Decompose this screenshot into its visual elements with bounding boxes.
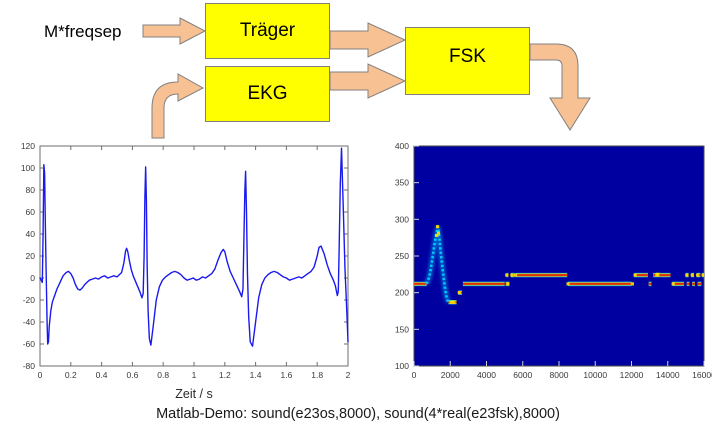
ecg-y-tick-label: 20 — [26, 251, 36, 261]
spectrogram-background — [414, 146, 704, 366]
block-traeger[interactable]: Träger — [205, 3, 330, 59]
block-ekg[interactable]: EKG — [205, 66, 330, 122]
source-label: M*freqsep — [44, 22, 121, 42]
ridge-fleck — [458, 291, 461, 294]
spec-x-tick-label: 8000 — [550, 370, 569, 380]
ecg-y-tick-label: 60 — [26, 207, 36, 217]
block-diagram: M*freqsep Träger EKG FSK — [0, 0, 716, 140]
ecg-y-tick-label: 0 — [30, 273, 35, 283]
ecg-x-tick-label: 1.2 — [219, 370, 231, 380]
ridge-fleck — [656, 273, 659, 276]
ridge-fleck — [566, 282, 569, 285]
ridge-fleck — [685, 273, 688, 276]
ecg-y-tick-label: -60 — [23, 339, 36, 349]
ridge-fleck — [672, 282, 675, 285]
ridge-fleck — [452, 301, 455, 304]
ecg-xaxis-title: Zeit / s — [175, 387, 213, 401]
block-fsk[interactable]: FSK — [405, 27, 530, 95]
ridge-fleck — [631, 282, 634, 285]
arrow-fsk-output — [530, 44, 590, 130]
ecg-x-tick-label: 2 — [346, 370, 351, 380]
ecg-axes-frame — [40, 146, 348, 366]
ridge-fleck — [634, 273, 637, 276]
block-ekg-label: EKG — [247, 83, 287, 105]
ecg-x-tick-label: 1 — [192, 370, 197, 380]
ecg-x-tick-label: 1.4 — [250, 370, 262, 380]
spec-x-tick-label: 2000 — [441, 370, 460, 380]
ecg-x-tick-label: 0.4 — [96, 370, 108, 380]
spec-x-tick-label: 6000 — [513, 370, 532, 380]
ridge-fleck — [696, 273, 699, 276]
ecg-x-tick-label: 0.8 — [157, 370, 169, 380]
spec-y-tick-label: 350 — [395, 178, 409, 188]
arrow-source-to-traeger — [143, 18, 205, 44]
ecg-y-tick-label: 120 — [21, 141, 35, 151]
spec-y-tick-label: 150 — [395, 324, 409, 334]
spec-y-tick-label: 250 — [395, 251, 409, 261]
spec-y-tick-label: 200 — [395, 288, 409, 298]
spectrogram-plot: 1001502002503003504000200040006000800010… — [378, 138, 712, 403]
ecg-x-tick-label: 0.6 — [126, 370, 138, 380]
spec-x-tick-label: 4000 — [477, 370, 496, 380]
spec-x-tick-label: 0 — [412, 370, 417, 380]
spec-x-tick-label: 14000 — [656, 370, 680, 380]
ecg-x-tick-label: 1.6 — [280, 370, 292, 380]
slide-canvas: M*freqsep Träger EKG FSK -80-60-40-20020… — [0, 0, 716, 441]
arrow-ekg-to-fsk — [330, 64, 405, 98]
ecg-y-tick-label: -20 — [23, 295, 36, 305]
ridge-fleck — [691, 273, 694, 276]
ecg-y-tick-label: -80 — [23, 361, 36, 371]
spec-x-tick-label: 16000 — [692, 370, 712, 380]
ridge-fleck — [436, 225, 439, 228]
ecg-x-tick-label: 0.2 — [65, 370, 77, 380]
spectrogram-plot-svg: 1001502002503003504000200040006000800010… — [378, 138, 712, 403]
arrow-feedback-to-ekg — [152, 74, 203, 138]
ecg-y-tick-label: 80 — [26, 185, 36, 195]
ecg-y-tick-label: 100 — [21, 163, 35, 173]
ecg-y-tick-label: 40 — [26, 229, 36, 239]
spec-y-tick-label: 300 — [395, 214, 409, 224]
block-fsk-label: FSK — [449, 46, 486, 68]
ridge-fleck — [505, 273, 508, 276]
ridge-fleck — [435, 234, 438, 237]
ecg-x-tick-label: 0 — [38, 370, 43, 380]
ridge-fleck — [506, 282, 509, 285]
spec-x-tick-label: 10000 — [583, 370, 607, 380]
spec-x-tick-label: 12000 — [620, 370, 644, 380]
diagram-arrows — [0, 0, 716, 140]
ridge-fleck — [510, 273, 513, 276]
ridge-fleck — [514, 273, 517, 276]
ecg-plot: -80-60-40-2002040608010012000.20.40.60.8… — [8, 138, 358, 403]
spec-y-tick-label: 100 — [395, 361, 409, 371]
ecg-plot-svg: -80-60-40-2002040608010012000.20.40.60.8… — [8, 138, 358, 403]
ecg-x-tick-label: 1.8 — [311, 370, 323, 380]
spec-y-tick-label: 400 — [395, 141, 409, 151]
arrow-traeger-to-fsk — [330, 23, 405, 57]
ecg-y-tick-label: -40 — [23, 317, 36, 327]
caption-text: Matlab-Demo: sound(e23os,8000), sound(4*… — [0, 406, 716, 422]
block-traeger-label: Träger — [240, 20, 295, 42]
